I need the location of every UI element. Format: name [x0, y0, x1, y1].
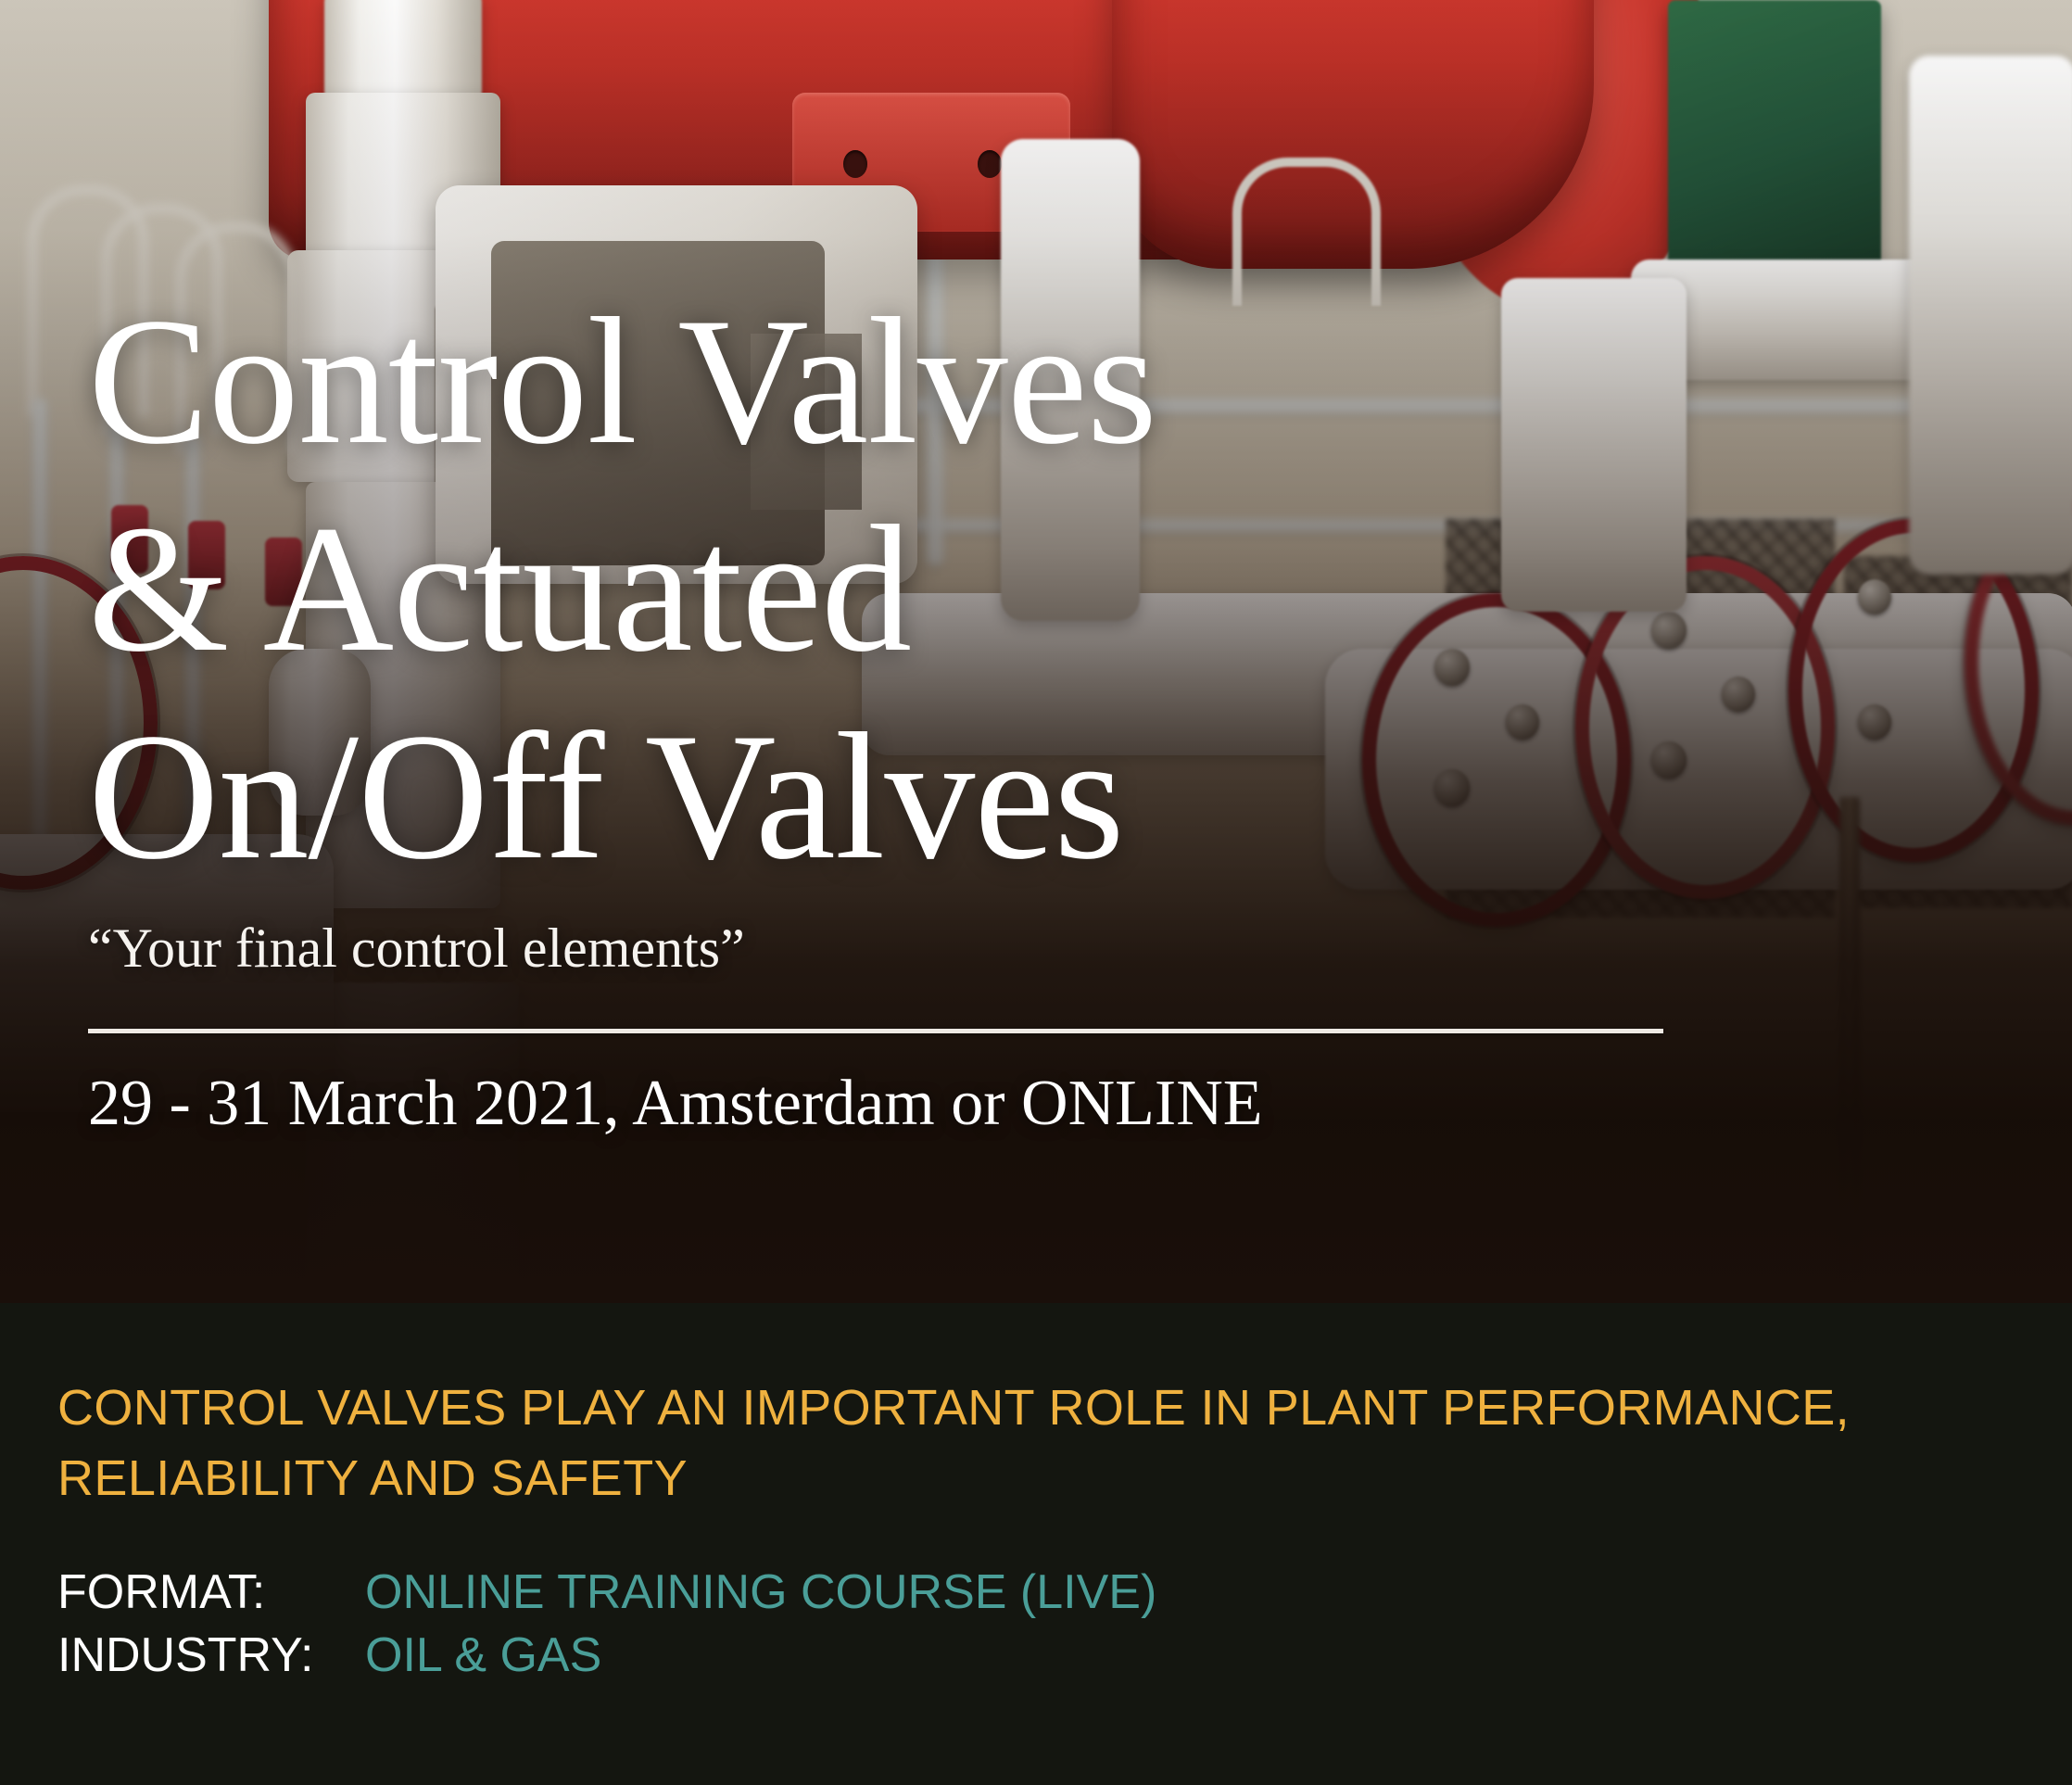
meta-value-industry: OIL & GAS — [365, 1624, 601, 1687]
meta-row-format: FORMAT: ONLINE TRAINING COURSE (LIVE) — [57, 1561, 1156, 1624]
meta-label-format: FORMAT: — [57, 1561, 365, 1624]
meta-value-format: ONLINE TRAINING COURSE (LIVE) — [365, 1561, 1156, 1624]
hero-title-line-1: Control Valves — [88, 278, 1941, 486]
hero-divider-rule — [88, 1029, 1663, 1033]
meta-label-industry: INDUSTRY: — [57, 1624, 365, 1687]
hero-title-line-2: & Actuated — [88, 486, 1941, 693]
hero-banner: Control Valves & Actuated On/Off Valves … — [0, 0, 2072, 1303]
panel-meta-list: FORMAT: ONLINE TRAINING COURSE (LIVE) IN… — [57, 1561, 1156, 1687]
hero-tagline: “Your final control elements” — [88, 916, 1941, 981]
details-panel: CONTROL VALVES PLAY AN IMPORTANT ROLE IN… — [0, 1303, 2072, 1785]
hero-title-line-3: On/Off Valves — [88, 693, 1941, 901]
hero-date-location: 29 - 31 March 2021, Amsterdam or ONLINE — [88, 1065, 1941, 1143]
course-promo-card: Control Valves & Actuated On/Off Valves … — [0, 0, 2072, 1785]
meta-row-industry: INDUSTRY: OIL & GAS — [57, 1624, 1156, 1687]
panel-headline: CONTROL VALVES PLAY AN IMPORTANT ROLE IN… — [57, 1373, 1920, 1513]
hero-text-block: Control Valves & Actuated On/Off Valves … — [88, 278, 1941, 1143]
